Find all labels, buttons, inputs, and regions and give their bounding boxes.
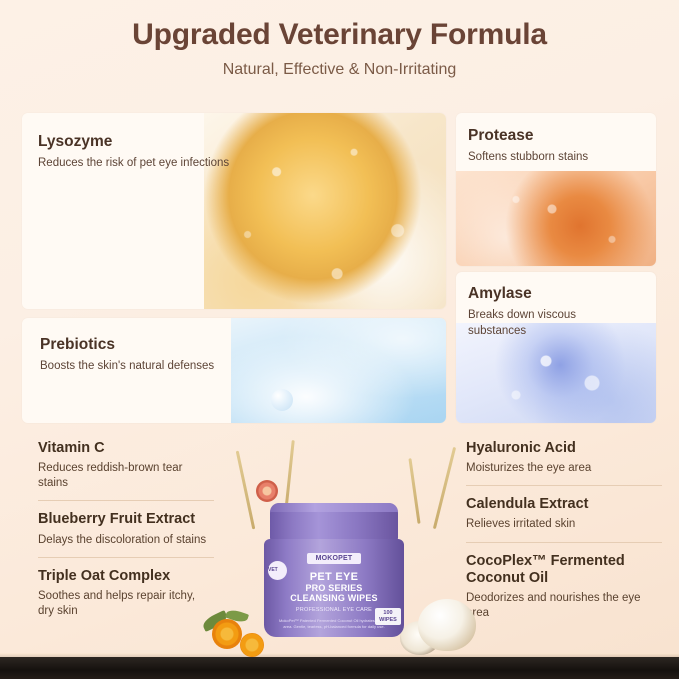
enzyme-bubble-image (456, 171, 656, 266)
bubble-icon (271, 389, 293, 411)
shelf-base (0, 657, 679, 679)
card-text-prebiotics: Prebiotics Boosts the skin's natural def… (40, 336, 255, 375)
header: Upgraded Veterinary Formula Natural, Eff… (0, 18, 679, 79)
jar-body: VET MOKOPET PET EYE PRO SERIES CLEANSING… (264, 539, 404, 637)
page-title: Upgraded Veterinary Formula (0, 18, 679, 52)
benefit-title: Blueberry Fruit Extract (38, 511, 214, 528)
product-name: PET EYE (278, 571, 390, 583)
product-fine-print: MokoPet™ Patented Fermented Coconut Oil … (278, 618, 390, 630)
benefit-list-right: Hyaluronic Acid Moisturizes the eye area… (466, 440, 662, 640)
ingredient-card-protease: Protease Softens stubborn stains (456, 113, 656, 266)
wheat-stalk-decoration (433, 447, 456, 529)
product-photo-scene: VET MOKOPET PET EYE PRO SERIES CLEANSING… (196, 440, 486, 679)
wheat-stalk-decoration (408, 458, 420, 524)
card-text-amylase: Amylase Breaks down viscous substances (468, 285, 628, 339)
card-description: Softens stubborn stains (468, 150, 618, 166)
ingredient-card-lysozyme: Lysozyme Reduces the risk of pet eye inf… (22, 113, 446, 309)
benefit-description: Moisturizes the eye area (466, 461, 662, 476)
benefit-item: Triple Oat Complex Soothes and helps rep… (38, 568, 214, 628)
product-subname: PRO SERIES CLEANSING WIPES (278, 583, 390, 603)
benefit-title: CocoPlex™ Fermented Coconut Oil (466, 553, 662, 587)
card-description: Breaks down viscous substances (468, 308, 628, 339)
flower-decoration (240, 633, 264, 657)
card-description: Reduces the risk of pet eye infections (38, 156, 238, 172)
promo-infographic: Upgraded Veterinary Formula Natural, Eff… (0, 0, 679, 679)
card-title: Prebiotics (40, 336, 255, 354)
wheat-stalk-decoration (236, 451, 256, 530)
card-title: Lysozyme (38, 133, 238, 151)
product-series: PROFESSIONAL EYE CARE (278, 607, 390, 613)
benefit-description: Delays the discoloration of stains (38, 533, 214, 548)
shelf-surface (0, 647, 679, 679)
card-text-protease: Protease Softens stubborn stains (468, 127, 618, 166)
benefit-title: Vitamin C (38, 440, 214, 457)
benefit-title: Triple Oat Complex (38, 568, 214, 585)
flower-decoration (212, 619, 242, 649)
benefit-item: Blueberry Fruit Extract Delays the disco… (38, 511, 214, 557)
brand-logo: MOKOPET (307, 553, 361, 564)
wheat-stalk-decoration (284, 440, 295, 512)
card-title: Protease (468, 127, 618, 145)
benefit-description: Relieves irritated skin (466, 517, 662, 532)
benefit-title: Calendula Extract (466, 496, 662, 513)
benefit-item: Calendula Extract Relieves irritated ski… (466, 496, 662, 542)
ingredient-card-prebiotics: Prebiotics Boosts the skin's natural def… (22, 318, 446, 423)
card-text-lysozyme: Lysozyme Reduces the risk of pet eye inf… (38, 133, 238, 172)
benefit-item: Vitamin C Reduces reddish-brown tear sta… (38, 440, 214, 501)
wipe-count-badge: 100 WIPES (375, 608, 401, 625)
coconut-decoration (418, 599, 476, 651)
benefit-item: CocoPlex™ Fermented Coconut Oil Deodoriz… (466, 553, 662, 631)
benefit-item: Hyaluronic Acid Moisturizes the eye area (466, 440, 662, 486)
benefit-description: Soothes and helps repair itchy, dry skin (38, 589, 214, 619)
card-description: Boosts the skin's natural defenses (40, 359, 255, 375)
ingredient-card-amylase: Amylase Breaks down viscous substances (456, 272, 656, 423)
benefit-list-left: Vitamin C Reduces reddish-brown tear sta… (38, 440, 214, 638)
benefit-description: Reduces reddish-brown tear stains (38, 461, 214, 491)
jar-label: MOKOPET PET EYE PRO SERIES CLEANSING WIP… (278, 553, 390, 627)
benefit-title: Hyaluronic Acid (466, 440, 662, 457)
benefit-description: Deodorizes and nourishes the eye area (466, 591, 662, 621)
flower-decoration (256, 480, 278, 502)
product-jar: VET MOKOPET PET EYE PRO SERIES CLEANSING… (264, 503, 404, 637)
jar-lid (270, 503, 398, 543)
page-subtitle: Natural, Effective & Non-Irritating (0, 61, 679, 79)
card-title: Amylase (468, 285, 628, 303)
honey-droplet-image (204, 113, 446, 309)
milk-splash-image (231, 318, 446, 423)
